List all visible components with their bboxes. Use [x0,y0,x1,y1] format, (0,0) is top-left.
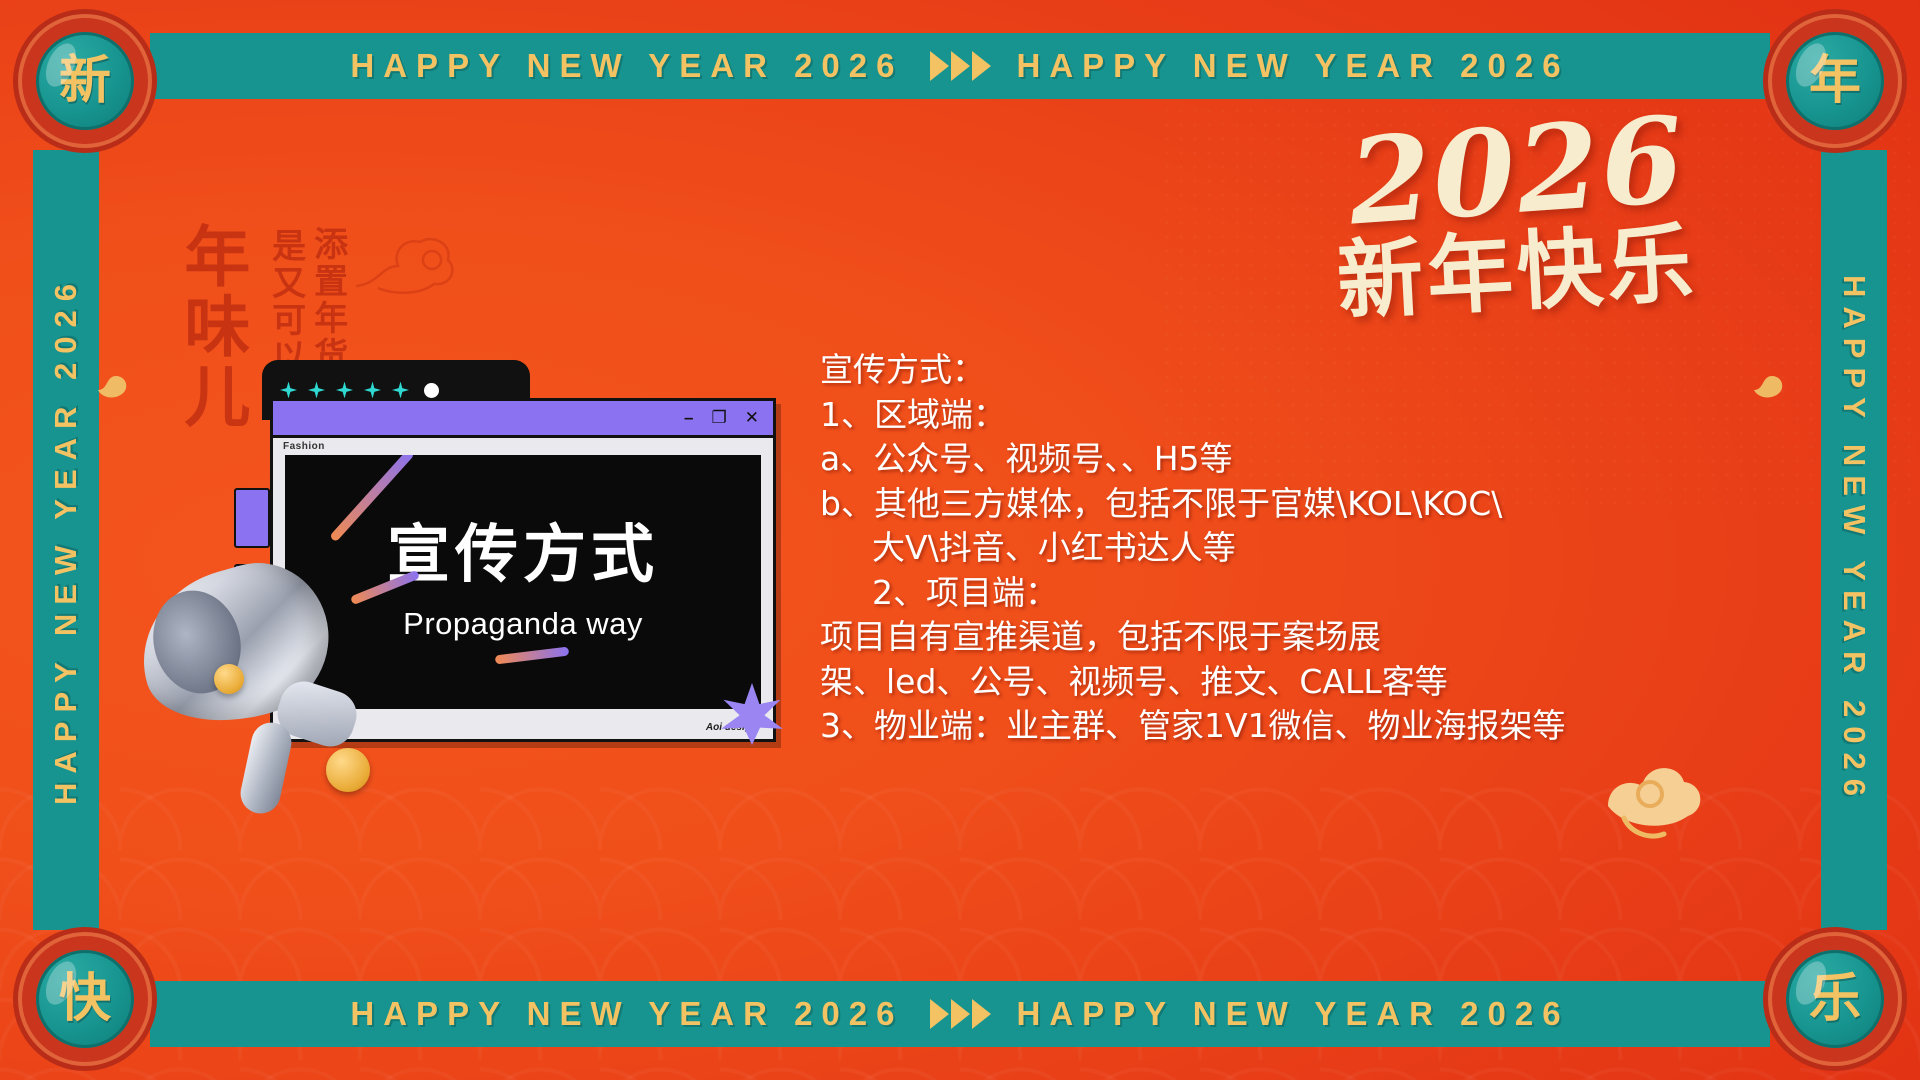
corner-medallion-top-right: 年 [1772,18,1898,144]
corner-medallion-bottom-left: 快 [22,936,148,1062]
bottom-banner-left-text: HAPPY NEW YEAR 2026 [350,995,903,1033]
corner-medallion-top-left: 新 [22,18,148,144]
content-line: b、其他三方媒体，包括不限于官媒\KOL\KOC\ [820,482,1700,527]
sparkle-icon [280,382,297,399]
mockup-tab-label: Fashion [283,441,325,452]
corner-glyph-xin: 新 [59,55,111,107]
corner-medallion-bottom-right: 乐 [1772,936,1898,1062]
ghost-calligraphy-col2: 添置年货 [310,226,345,374]
content-line: 大V\抖音、小红书达人等 [820,526,1700,571]
content-line: 架、led、公号、视频号、推文、CALL客等 [820,660,1700,705]
chevron-right-icon [930,51,991,81]
content-heading: 宣传方式： [820,348,1700,393]
gold-cloud-large-icon [1590,740,1710,850]
new-year-poster: 年味儿 是又可以 添置年货 HAPPY NEW YEAR 2026 HAPPY … [0,0,1920,1080]
gold-cloud-icon-left [92,360,136,400]
right-banner-text: HAPPY NEW YEAR 2026 [1836,275,1872,805]
gold-coin-icon [326,748,370,792]
corner-glyph-nian: 年 [1809,55,1861,107]
left-banner: HAPPY NEW YEAR 2026 [33,150,99,930]
sparkle-icon [336,382,353,399]
sparkle-icon [392,382,409,399]
cloud-outline-icon [348,226,458,312]
right-banner: HAPPY NEW YEAR 2026 [1821,150,1887,930]
minimize-icon[interactable]: – [684,408,693,428]
close-icon[interactable]: ✕ [745,408,759,428]
mockup-title-bar: – ❐ ✕ [273,401,773,438]
restore-icon[interactable]: ❐ [712,408,727,428]
top-banner-left-text: HAPPY NEW YEAR 2026 [350,47,903,85]
hero-calligraphy: 2026 新年快乐 [1282,118,1752,316]
sparkle-icon [308,382,325,399]
gold-coin-icon-small [214,664,244,694]
circle-dot-icon [424,383,439,398]
left-banner-text: HAPPY NEW YEAR 2026 [48,275,84,805]
mockup-heading-cn: 宣传方式 [387,523,659,586]
corner-glyph-le: 乐 [1809,973,1861,1025]
content-line: a、公众号、视频号、、H5等 [820,437,1700,482]
content-line: 2、项目端： [820,571,1700,616]
top-banner-right-text: HAPPY NEW YEAR 2026 [1017,47,1570,85]
mockup-heading-en: Propaganda way [403,606,643,642]
bottom-banner-right-text: HAPPY NEW YEAR 2026 [1017,995,1570,1033]
hero-year: 2026 [1279,102,1755,241]
corner-glyph-kuai: 快 [59,973,111,1025]
ghost-calligraphy-big: 年味儿 [178,222,245,432]
chevron-right-icon-bottom [930,999,991,1029]
megaphone-handle [237,719,295,817]
decor-streak [495,647,570,665]
content-line: 项目自有宣推渠道，包括不限于案场展 [820,615,1700,660]
ghost-calligraphy-col1: 是又可以 [268,228,303,376]
megaphone-illustration [128,560,378,830]
top-banner: HAPPY NEW YEAR 2026 HAPPY NEW YEAR 2026 [150,33,1770,99]
bottom-banner: HAPPY NEW YEAR 2026 HAPPY NEW YEAR 2026 [150,981,1770,1047]
hero-greeting: 新年快乐 [1280,218,1754,328]
content-line: 1、区域端： [820,393,1700,438]
sparkle-icon [364,382,381,399]
content-block: 宣传方式： 1、区域端： a、公众号、视频号、、H5等 b、其他三方媒体，包括不… [820,348,1700,749]
gold-cloud-icon [1748,360,1792,400]
content-line: 3、物业端：业主群、管家1V1微信、物业海报架等 [820,704,1700,749]
